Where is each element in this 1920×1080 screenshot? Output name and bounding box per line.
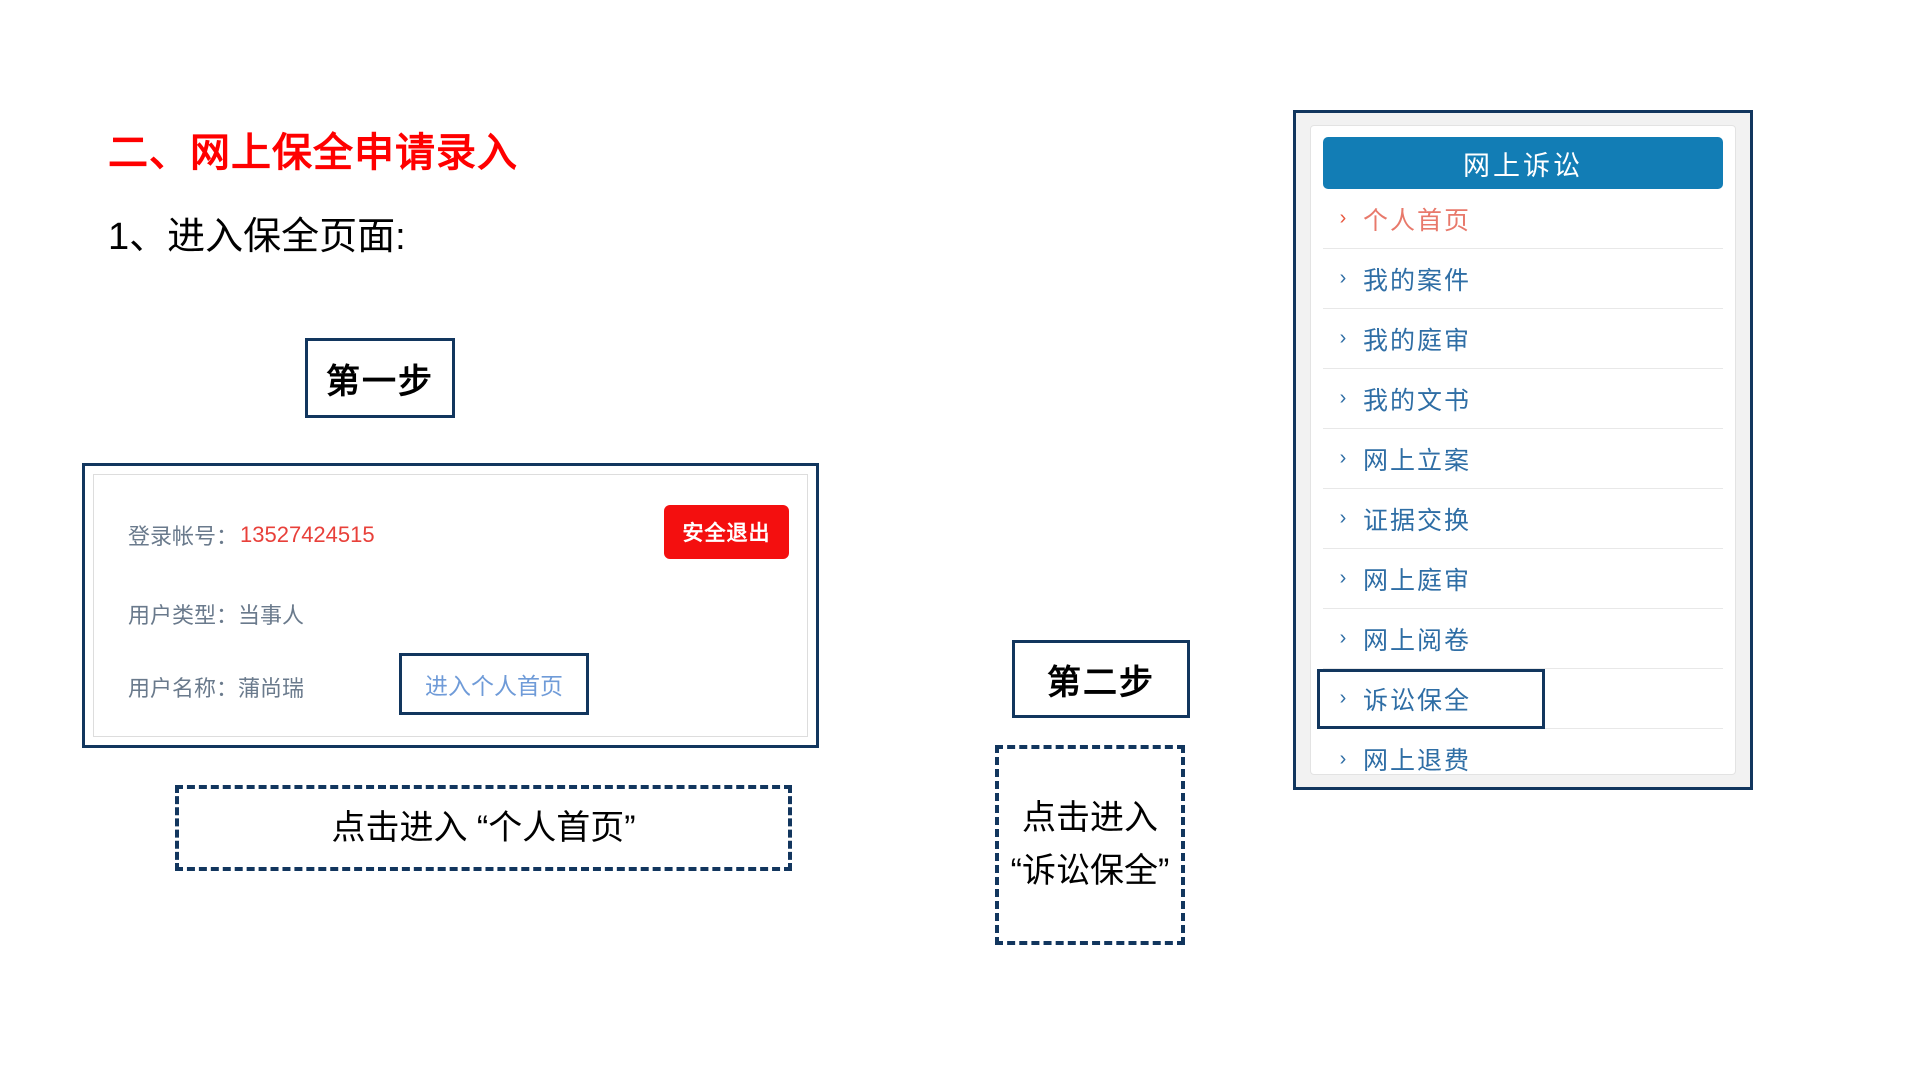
login-info-panel: 登录帐号： 13527424515 用户类型： 当事人 用户名称： 蒲尚瑞 安全… [93, 474, 808, 737]
caption-step-two-line1: 点击进入 [1022, 792, 1158, 845]
sidebar-item-label: 我的庭审 [1363, 321, 1471, 357]
sidebar-item-label: 证据交换 [1363, 501, 1471, 537]
sidebar-item-10[interactable]: ›网上退费 [1323, 729, 1723, 789]
account-value: 13527424515 [240, 522, 375, 548]
page-title: 二、网上保全申请录入 [108, 120, 518, 178]
sidebar-item-1[interactable]: ›个人首页 [1323, 189, 1723, 249]
sidebar-item-label: 诉讼保全 [1363, 681, 1471, 717]
chevron-right-icon: › [1323, 267, 1363, 290]
chevron-right-icon: › [1323, 748, 1363, 771]
sidebar-item-label: 我的案件 [1363, 261, 1471, 297]
step-two-badge: 第二步 [1012, 640, 1190, 718]
slide-canvas: 二、网上保全申请录入 1、进入保全页面: 第一步 登录帐号： 135274245… [0, 0, 1920, 1080]
chevron-right-icon: › [1323, 447, 1363, 470]
enter-personal-home-label: 进入个人首页 [425, 667, 563, 701]
caption-step-two: 点击进入 “诉讼保全” [995, 745, 1185, 945]
sidebar-item-4[interactable]: ›我的文书 [1323, 369, 1723, 429]
user-name-label: 用户名称： [128, 671, 238, 703]
enter-personal-home-button[interactable]: 进入个人首页 [399, 653, 589, 715]
user-type-value: 当事人 [238, 598, 304, 630]
sidebar-item-5[interactable]: ›网上立案 [1323, 429, 1723, 489]
sidebar-panel: 网上诉讼 ›个人首页›我的案件›我的庭审›我的文书›网上立案›证据交换›网上庭审… [1310, 125, 1736, 775]
sidebar-item-2[interactable]: ›我的案件 [1323, 249, 1723, 309]
sidebar-item-label: 网上庭审 [1363, 561, 1471, 597]
sidebar-item-label: 网上退费 [1363, 741, 1471, 777]
account-row: 登录帐号： 13527424515 [128, 519, 375, 551]
sidebar-item-3[interactable]: ›我的庭审 [1323, 309, 1723, 369]
sidebar-nav-list: ›个人首页›我的案件›我的庭审›我的文书›网上立案›证据交换›网上庭审›网上阅卷… [1323, 189, 1723, 789]
sidebar-item-label: 网上阅卷 [1363, 621, 1471, 657]
caption-step-one: 点击进入 “个人首页” [175, 785, 792, 871]
sidebar-item-8[interactable]: ›网上阅卷 [1323, 609, 1723, 669]
sidebar-item-6[interactable]: ›证据交换 [1323, 489, 1723, 549]
chevron-right-icon: › [1323, 207, 1363, 230]
logout-button[interactable]: 安全退出 [664, 505, 789, 559]
user-name-row: 用户名称： 蒲尚瑞 [128, 671, 304, 703]
step-one-badge: 第一步 [305, 338, 455, 418]
sidebar-item-9[interactable]: ›诉讼保全 [1323, 669, 1723, 729]
chevron-right-icon: › [1323, 627, 1363, 650]
chevron-right-icon: › [1323, 567, 1363, 590]
sidebar-header: 网上诉讼 [1323, 137, 1723, 189]
sidebar-screenshot-frame: 网上诉讼 ›个人首页›我的案件›我的庭审›我的文书›网上立案›证据交换›网上庭审… [1293, 110, 1753, 790]
user-type-row: 用户类型： 当事人 [128, 598, 304, 630]
sidebar-item-label: 个人首页 [1363, 201, 1471, 237]
step-description: 1、进入保全页面: [108, 205, 406, 260]
sidebar-item-7[interactable]: ›网上庭审 [1323, 549, 1723, 609]
chevron-right-icon: › [1323, 507, 1363, 530]
sidebar-item-label: 网上立案 [1363, 441, 1471, 477]
chevron-right-icon: › [1323, 387, 1363, 410]
chevron-right-icon: › [1323, 327, 1363, 350]
login-info-card: 登录帐号： 13527424515 用户类型： 当事人 用户名称： 蒲尚瑞 安全… [82, 463, 819, 748]
chevron-right-icon: › [1323, 687, 1363, 710]
user-type-label: 用户类型： [128, 598, 238, 630]
sidebar-item-label: 我的文书 [1363, 381, 1471, 417]
user-name-value: 蒲尚瑞 [238, 671, 304, 703]
caption-step-two-line2: “诉讼保全” [1011, 845, 1170, 898]
account-label: 登录帐号： [128, 519, 238, 551]
